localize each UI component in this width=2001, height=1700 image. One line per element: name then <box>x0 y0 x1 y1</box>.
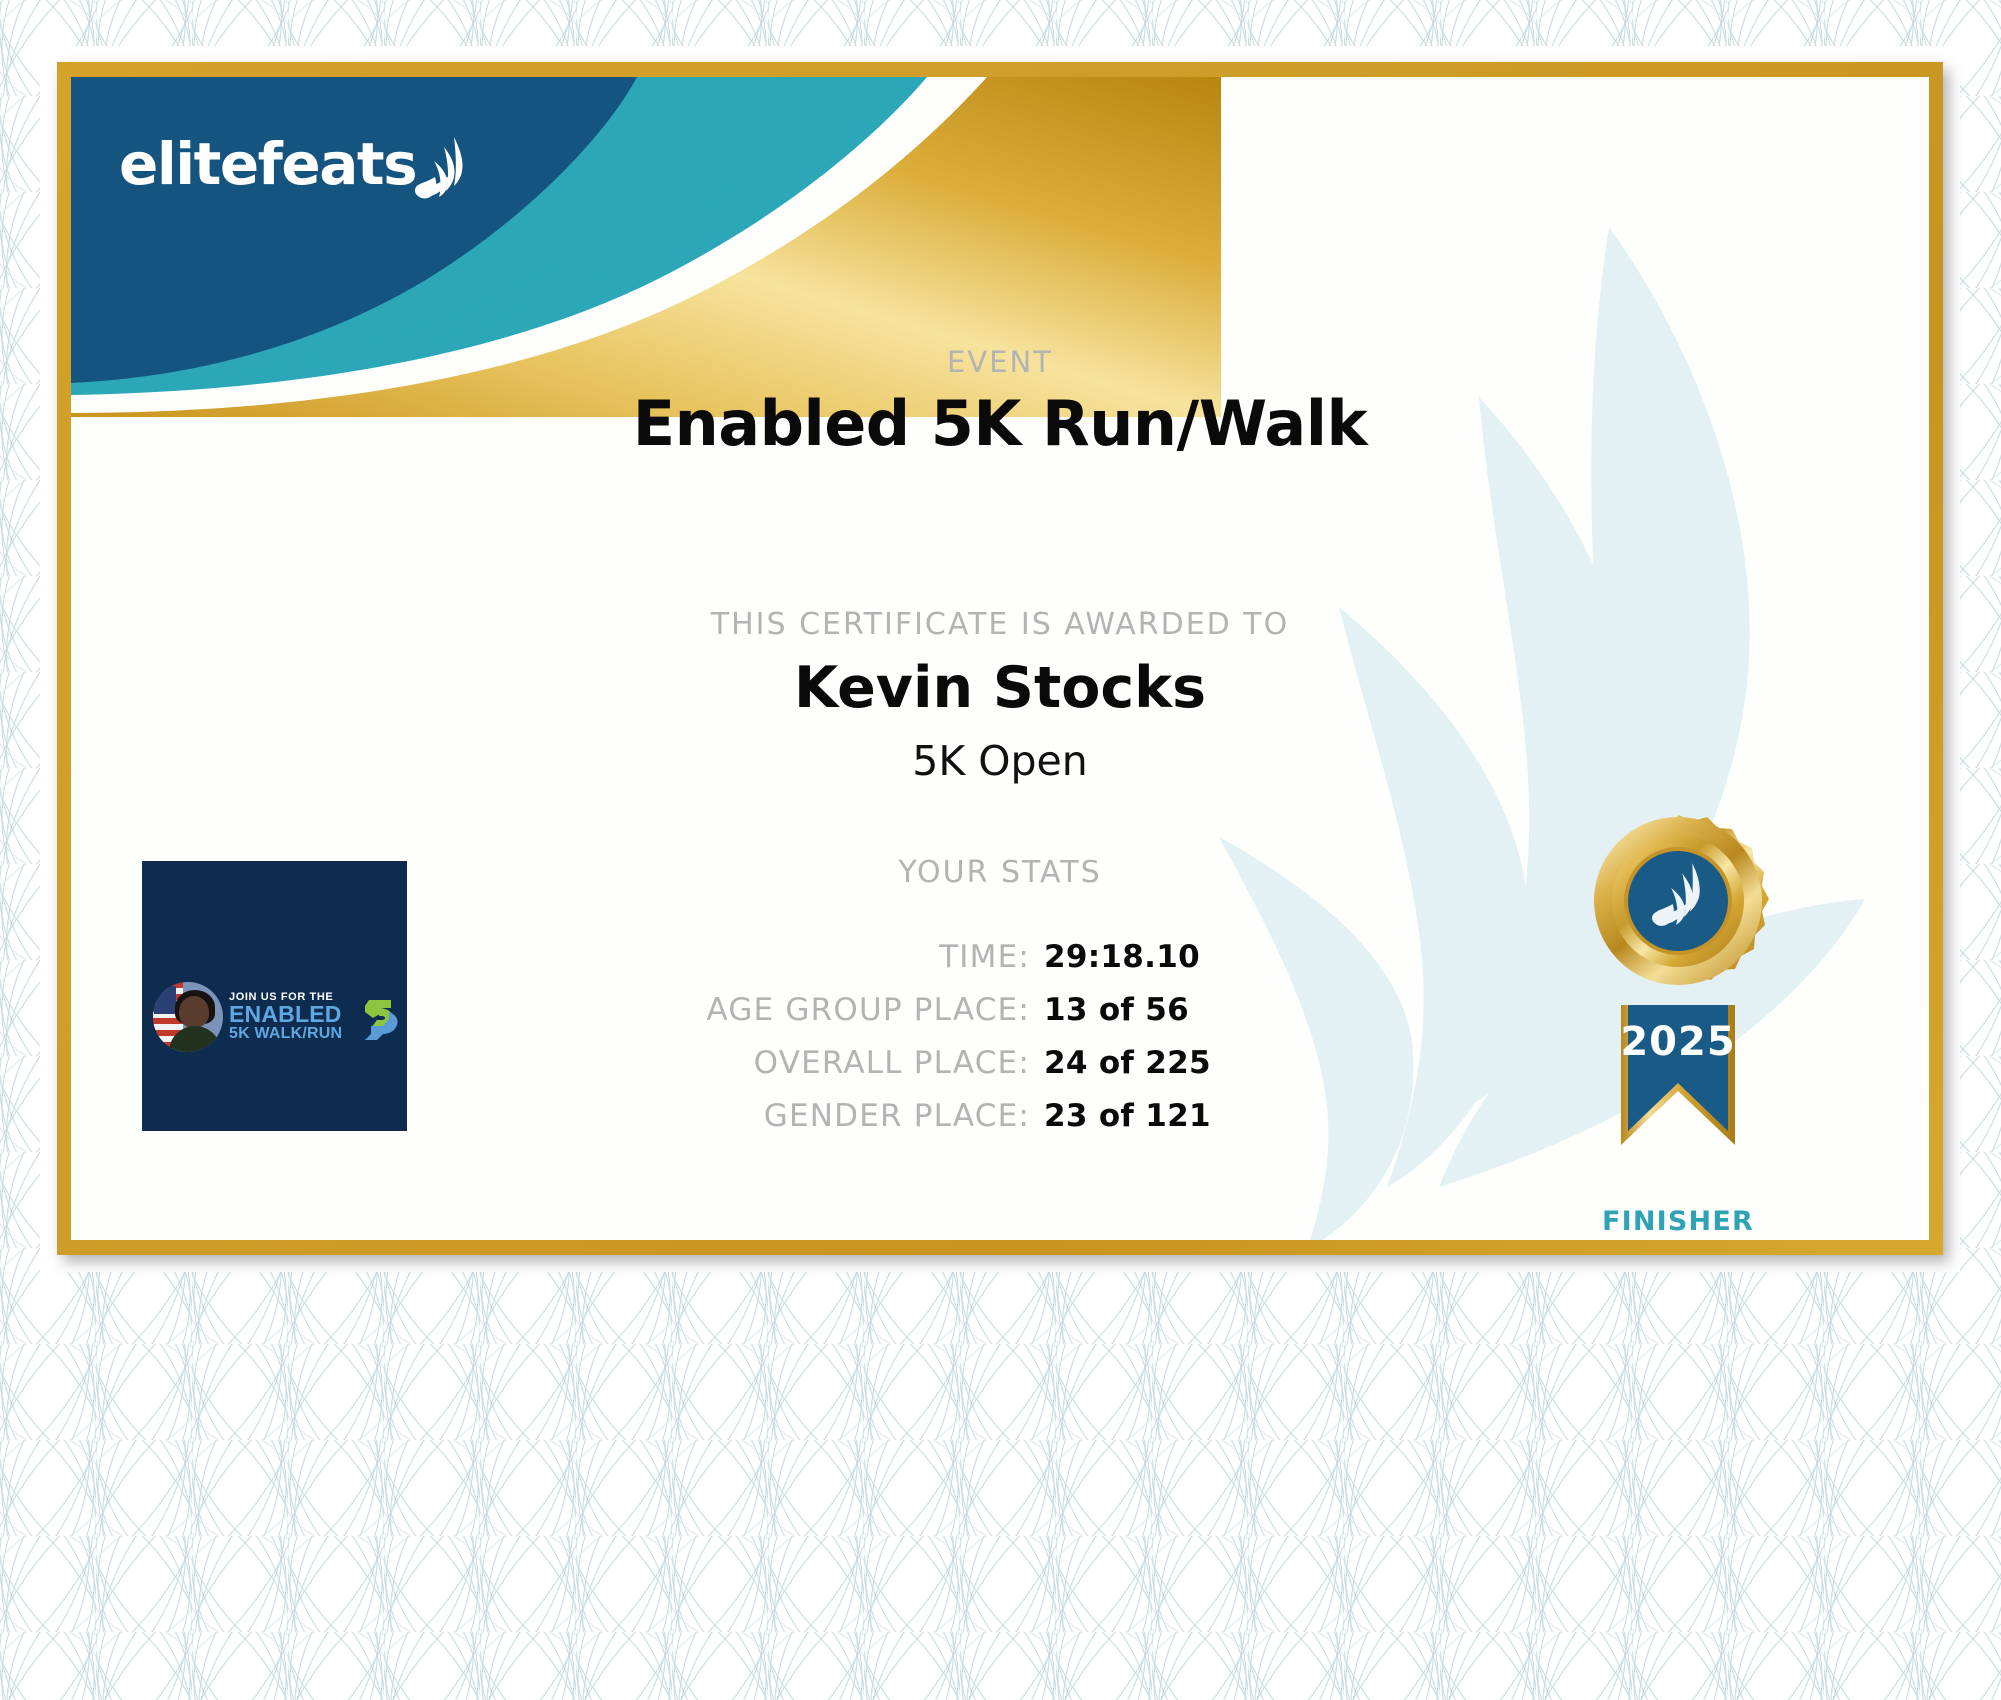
event-label: EVENT <box>71 345 1929 379</box>
stat-value-time: 29:18.10 <box>1030 939 1450 975</box>
badge-caption-line-1: FINISHER <box>1553 1206 1803 1237</box>
event-title: Enabled 5K Run/Walk <box>71 387 1929 460</box>
certificate-gold-frame: elitefeats EVENT Enabled 5K Run/Walk THI… <box>57 62 1943 1255</box>
certificate-page: elitefeats EVENT Enabled 5K Run/Walk THI… <box>0 0 2001 1700</box>
elitefeats-logo: elitefeats <box>119 129 472 199</box>
stat-row-age-group-place: AGE GROUP PLACE: 13 of 56 <box>550 992 1450 1028</box>
portrait-head <box>179 996 209 1028</box>
winged-foot-icon <box>414 135 472 199</box>
stat-value-age-group-place: 13 of 56 <box>1030 992 1450 1028</box>
enabled-s-logo-icon <box>359 994 401 1040</box>
medal-ribbon-icon: 2025 <box>1553 805 1803 1195</box>
flag-canton <box>154 986 176 1014</box>
finisher-badge: 2025 FINISHER CERTIFICATE <box>1553 805 1803 1240</box>
recipient-division: 5K Open <box>71 737 1929 785</box>
stat-row-time: TIME: 29:18.10 <box>550 939 1450 975</box>
badge-year-text: 2025 <box>1620 1019 1735 1065</box>
logo-wordmark: elitefeats <box>119 135 416 193</box>
recipient-name: Kevin Stocks <box>71 655 1929 721</box>
stat-label-age-group-place: AGE GROUP PLACE: <box>550 992 1030 1028</box>
stat-value-gender-place: 23 of 121 <box>1030 1098 1450 1134</box>
event-thumbnail-text: JOIN US FOR THE ENABLED 5K WALK/RUN <box>229 992 353 1043</box>
badge-caption-line-2: CERTIFICATE <box>1553 1237 1803 1240</box>
stat-label-time: TIME: <box>550 939 1030 975</box>
event-thumbnail-banner: JOIN US FOR THE ENABLED 5K WALK/RUN <box>142 978 407 1056</box>
thumbnail-line-2: ENABLED <box>229 1003 353 1026</box>
certificate-inner-card: elitefeats EVENT Enabled 5K Run/Walk THI… <box>71 77 1929 1240</box>
awarded-to-label: THIS CERTIFICATE IS AWARDED TO <box>71 607 1929 642</box>
badge-caption: FINISHER CERTIFICATE <box>1553 1206 1803 1240</box>
thumbnail-line-3: 5K WALK/RUN <box>229 1026 353 1042</box>
event-thumbnail-image: JOIN US FOR THE ENABLED 5K WALK/RUN <box>142 861 407 1131</box>
stat-row-gender-place: GENDER PLACE: 23 of 121 <box>550 1098 1450 1134</box>
stat-value-overall-place: 24 of 225 <box>1030 1045 1450 1081</box>
stat-row-overall-place: OVERALL PLACE: 24 of 225 <box>550 1045 1450 1081</box>
stat-label-overall-place: OVERALL PLACE: <box>550 1045 1030 1081</box>
avatar <box>153 982 223 1052</box>
stat-label-gender-place: GENDER PLACE: <box>550 1098 1030 1134</box>
